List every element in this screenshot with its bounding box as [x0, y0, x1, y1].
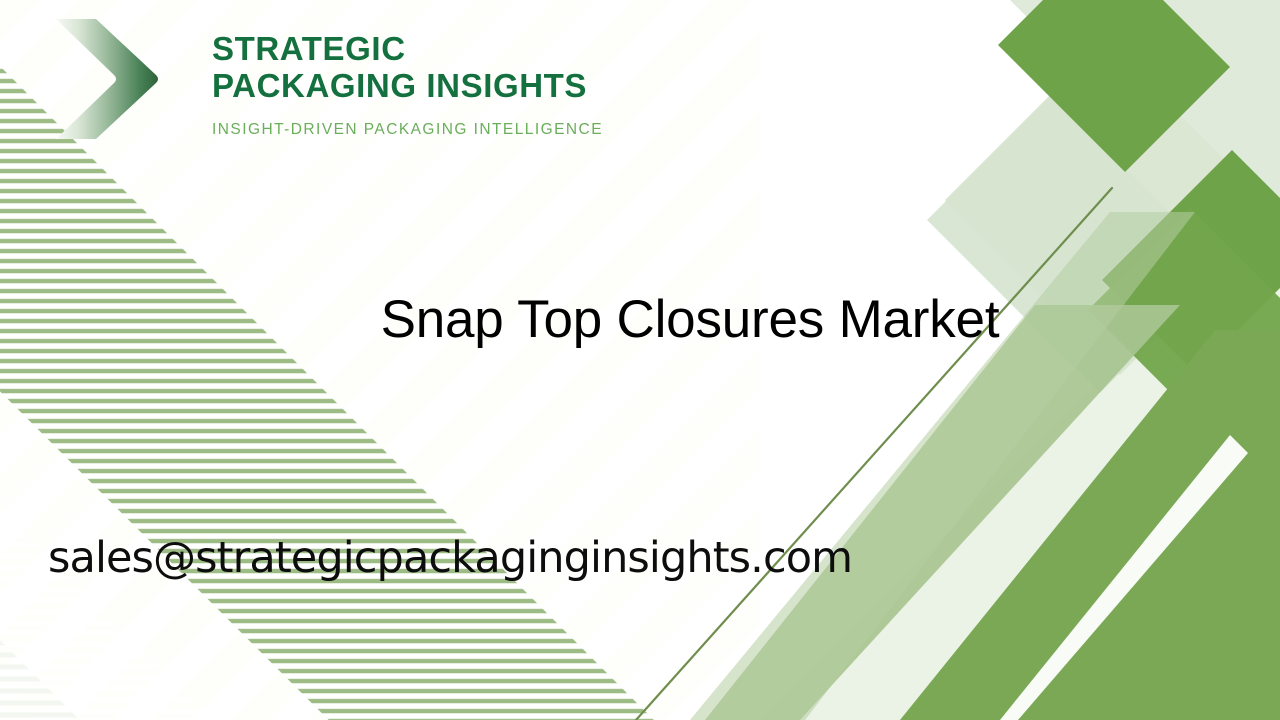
- logo-wordmark: STRATEGIC PACKAGING INSIGHTS INSIGHT-DRI…: [212, 30, 652, 140]
- contact-email[interactable]: sales@strategicpackaginginsights.com: [48, 530, 852, 586]
- slide-canvas: STRATEGIC PACKAGING INSIGHTS INSIGHT-DRI…: [0, 0, 1280, 720]
- slide-title: Snap Top Closures Market: [330, 294, 1050, 345]
- chevron-mark-icon: [52, 15, 160, 143]
- logo-line-2: PACKAGING INSIGHTS: [212, 67, 652, 104]
- logo-line-1: STRATEGIC: [212, 30, 652, 67]
- brand-logo: STRATEGIC PACKAGING INSIGHTS INSIGHT-DRI…: [52, 12, 652, 142]
- logo-tagline: INSIGHT-DRIVEN PACKAGING INTELLIGENCE: [212, 120, 652, 140]
